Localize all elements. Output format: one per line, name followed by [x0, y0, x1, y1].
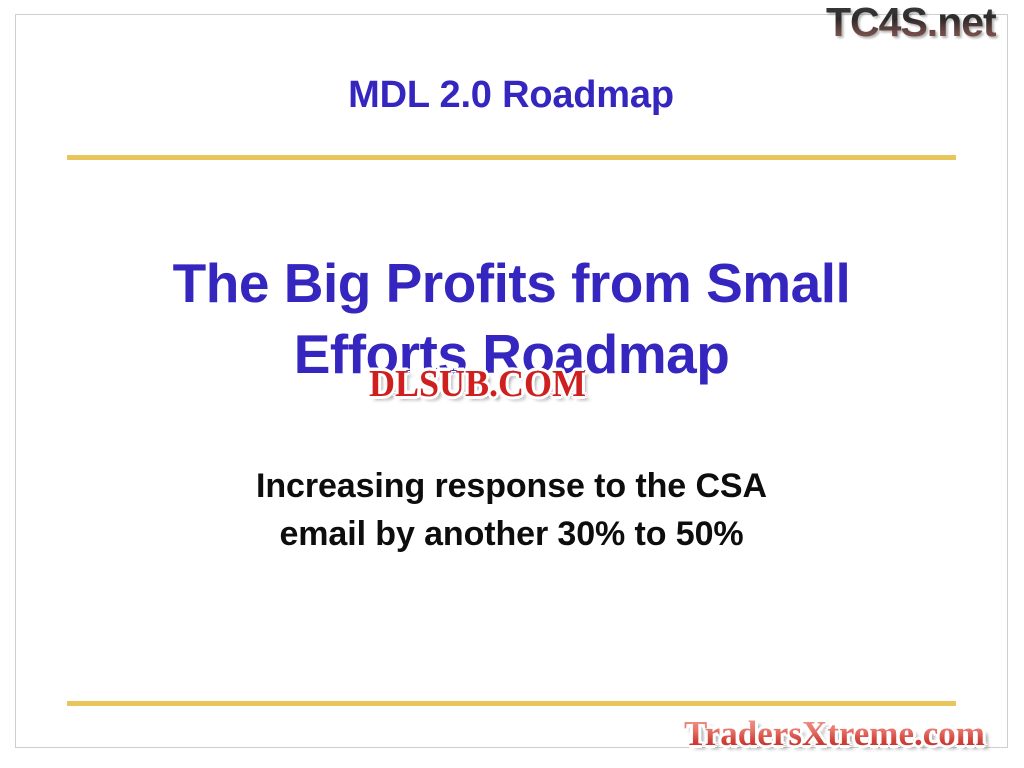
slide-canvas: MDL 2.0 Roadmap The Big Profits from Sma…: [0, 0, 1024, 768]
watermark-dlsub-logo: DLSUB.COM: [369, 364, 586, 402]
watermark-tc4s-logo: TC4S.net: [826, 2, 996, 43]
watermark-tradersxtreme-logo: TradersXtreme.com: [684, 716, 985, 751]
subtext-line-1: Increasing response to the CSA: [67, 462, 956, 510]
slide-title: MDL 2.0 Roadmap: [67, 73, 955, 117]
divider-rule-top: [67, 155, 956, 160]
divider-rule-bottom: [67, 701, 956, 706]
subtext-block: Increasing response to the CSA email by …: [67, 462, 956, 558]
headline-line-1: The Big Profits from Small: [67, 248, 956, 319]
subtext-line-2: email by another 30% to 50%: [67, 510, 956, 558]
